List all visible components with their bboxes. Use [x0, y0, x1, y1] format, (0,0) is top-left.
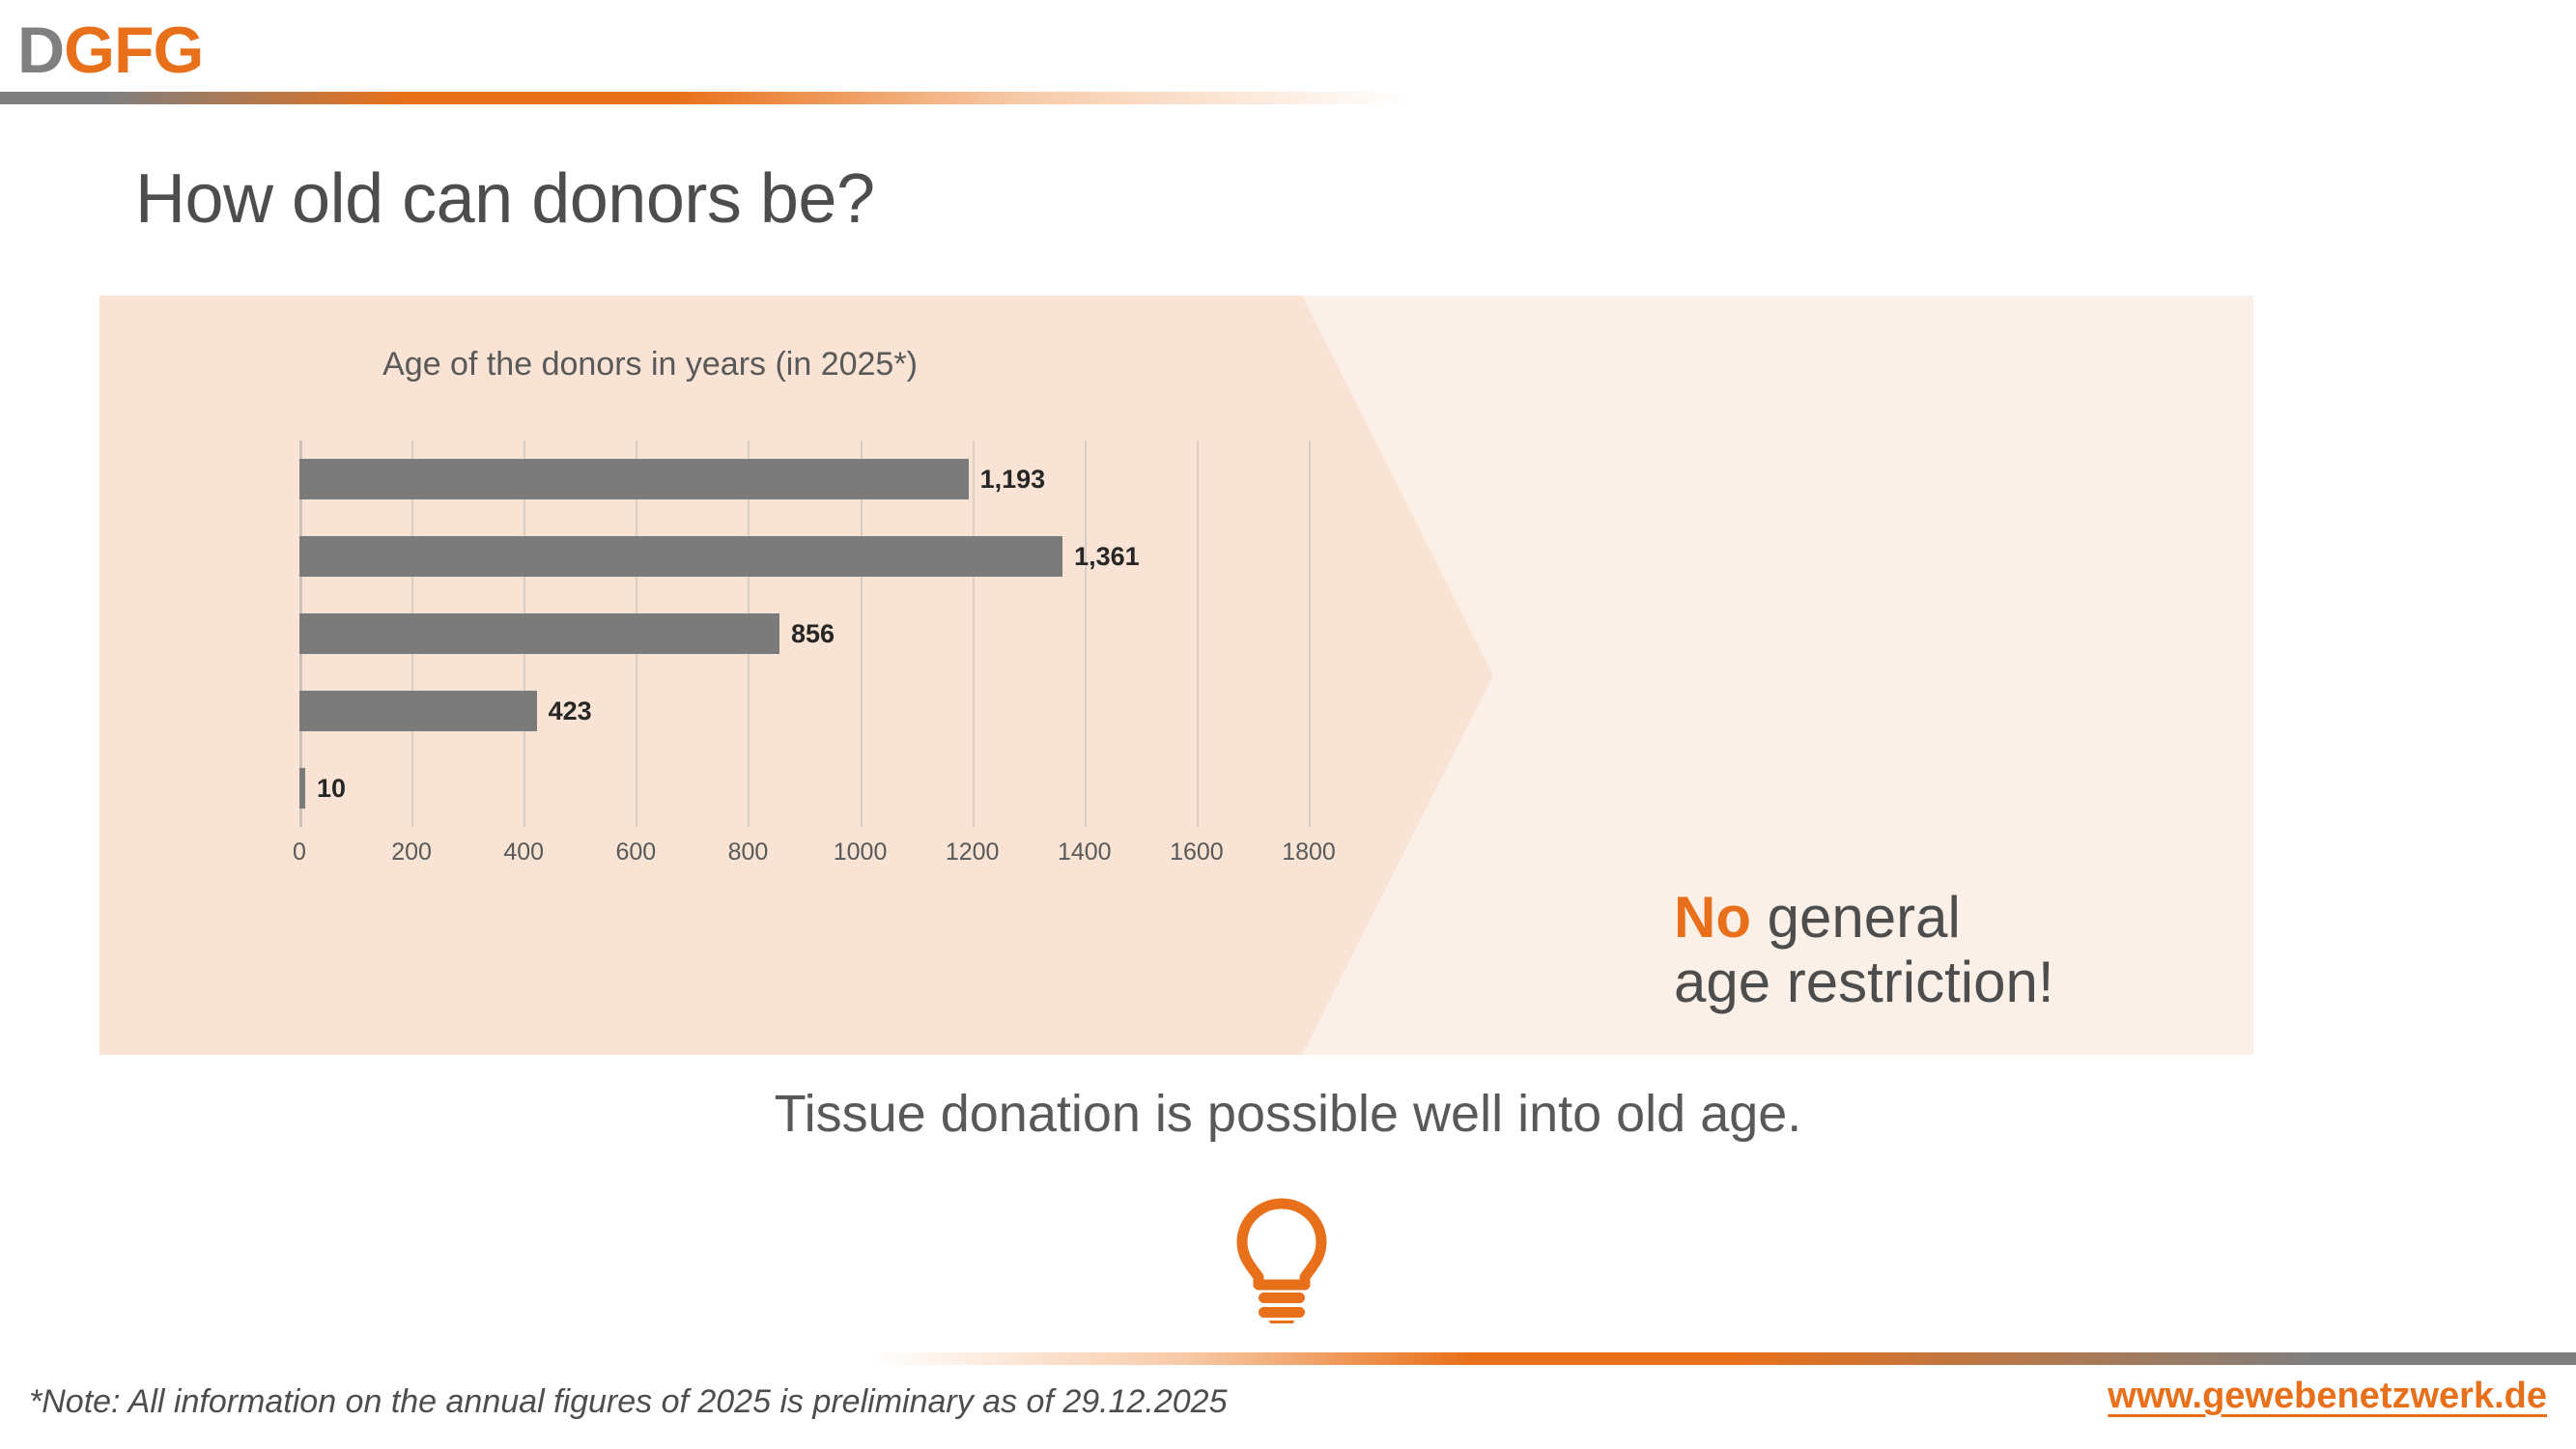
chart-bar[interactable]	[299, 613, 779, 654]
x-axis-tick-label: 800	[728, 838, 769, 867]
caption-text: Tissue donation is possible well into ol…	[0, 1084, 2576, 1144]
chart-bar[interactable]	[299, 536, 1062, 577]
x-axis-tick-label: 1400	[1058, 838, 1112, 867]
chart-bar[interactable]	[299, 691, 537, 731]
header-gradient-rule	[0, 92, 1420, 104]
x-axis-tick-label: 0	[293, 838, 306, 867]
gridline	[1309, 440, 1311, 827]
bar-value-label: 856	[791, 619, 835, 649]
callout-line-1: No general	[1674, 885, 2054, 950]
content-panel: Age of the donors in years (in 2025*) 02…	[99, 296, 2253, 1055]
logo-letter-d: D	[17, 14, 64, 87]
lightbulb-icon	[1229, 1198, 1335, 1323]
callout-highlight: No	[1674, 885, 1751, 950]
chart-bar-row: 65-741,361	[299, 518, 1140, 595]
x-axis-tick-label: 200	[391, 838, 432, 867]
x-axis-tick-label: 600	[615, 838, 656, 867]
chart-bar[interactable]	[299, 459, 969, 499]
donor-age-bar-chart: Age of the donors in years (in 2025*) 02…	[99, 296, 1493, 1055]
callout-line-1-rest: general	[1751, 885, 1961, 950]
callout-line-2: age restriction!	[1674, 950, 2054, 1014]
bar-value-label: 1,361	[1074, 542, 1140, 572]
page-title: How old can donors be?	[135, 159, 875, 239]
bar-value-label: 1,193	[980, 465, 1046, 495]
x-axis-tick-label: 1600	[1170, 838, 1224, 867]
x-axis-tick-label: 1000	[834, 838, 888, 867]
chart-bar-row: 55-64856	[299, 595, 835, 672]
x-axis-tick-label: 1800	[1282, 838, 1336, 867]
gridline	[1197, 440, 1199, 827]
gridline	[1085, 440, 1087, 827]
chart-title: Age of the donors in years (in 2025*)	[99, 346, 1201, 384]
logo-letters-gfg: GFG	[64, 14, 203, 87]
x-axis-tick-label: 400	[503, 838, 544, 867]
chart-bar[interactable]	[299, 768, 305, 809]
dgfg-logo: DGFG	[17, 17, 203, 83]
website-link[interactable]: www.gewebenetzwerk.de	[2108, 1376, 2547, 1417]
bar-value-label: 423	[549, 696, 592, 726]
chart-plot-area: 02004006008001000120014001600180075 and …	[299, 440, 1309, 827]
chart-bar-row: <1610	[299, 750, 346, 827]
callout-text: No general age restriction!	[1674, 885, 2054, 1014]
footer-gradient-rule	[869, 1352, 2576, 1365]
x-axis-tick-label: 1200	[946, 838, 1000, 867]
chart-bar-row: 16-54423	[299, 672, 592, 750]
bar-value-label: 10	[317, 774, 346, 804]
chart-bar-row: 75 and up1,193	[299, 440, 1045, 518]
footer-note: *Note: All information on the annual fig…	[29, 1383, 1228, 1421]
